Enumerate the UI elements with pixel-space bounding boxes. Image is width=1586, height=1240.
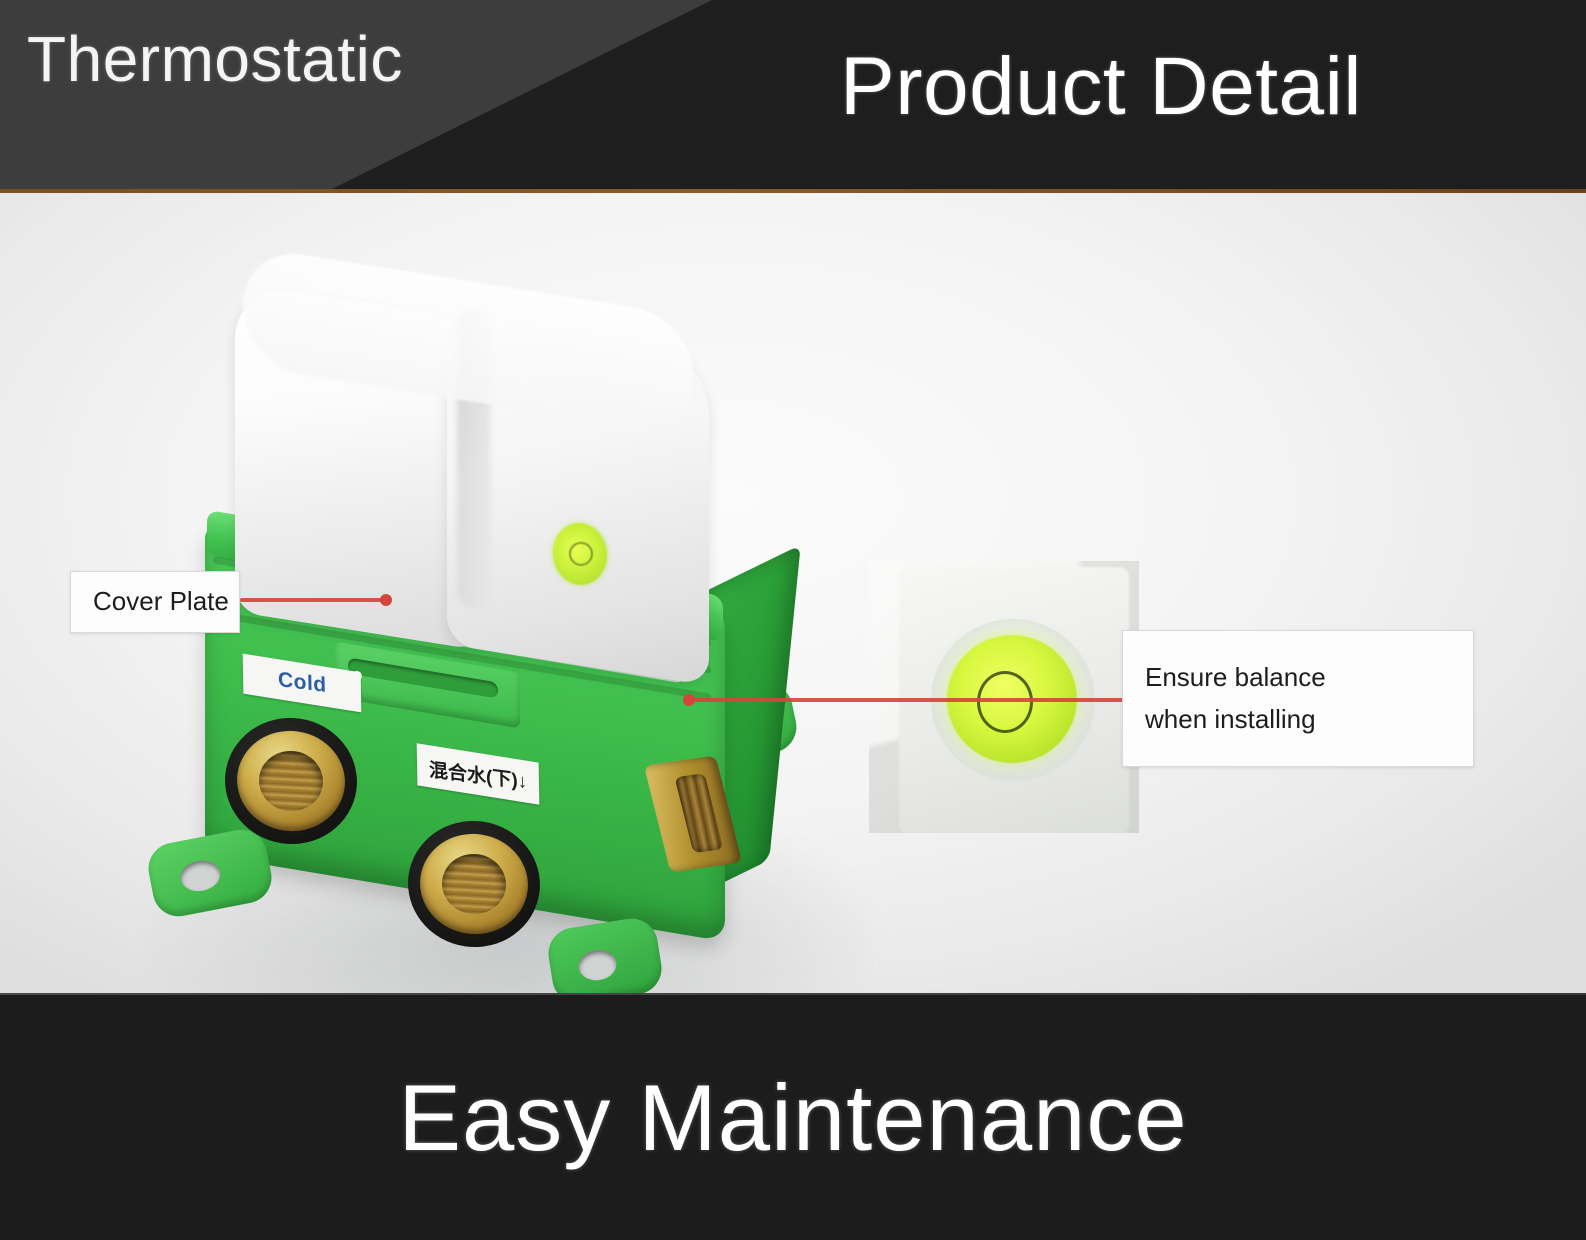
leader-line-cover-plate [240,598,388,602]
leader-dot-ensure-balance [683,694,695,706]
product-photo-stage: Cold 混合水(下)↓ [0,193,1586,995]
footer-title: Easy Maintenance [398,1064,1187,1172]
callout-cover-plate: Cover Plate [70,571,240,633]
leader-line-ensure-balance [686,698,1126,702]
inset-bubble-level-ring [977,671,1033,733]
callout-ensure-balance-line2: when installing [1145,699,1451,741]
header-left-title: Thermostatic [27,22,403,96]
callout-cover-plate-text: Cover Plate [93,581,217,623]
callout-ensure-balance: Ensure balance when installing [1122,630,1474,767]
product-detail-page: Thermostatic Product Detail [0,0,1586,1240]
callout-ensure-balance-line1: Ensure balance [1145,657,1451,699]
footer-banner: Easy Maintenance [0,995,1586,1240]
header-right-title: Product Detail [840,40,1362,134]
mounting-ear-left [144,825,276,921]
leader-dot-cover-plate [380,594,392,606]
header-banner: Thermostatic Product Detail [0,0,1586,190]
bubble-level-inset-photo [869,561,1139,833]
sticker-mixed-water-label: 混合水(下)↓ [429,754,528,793]
cover-plate [235,271,755,691]
